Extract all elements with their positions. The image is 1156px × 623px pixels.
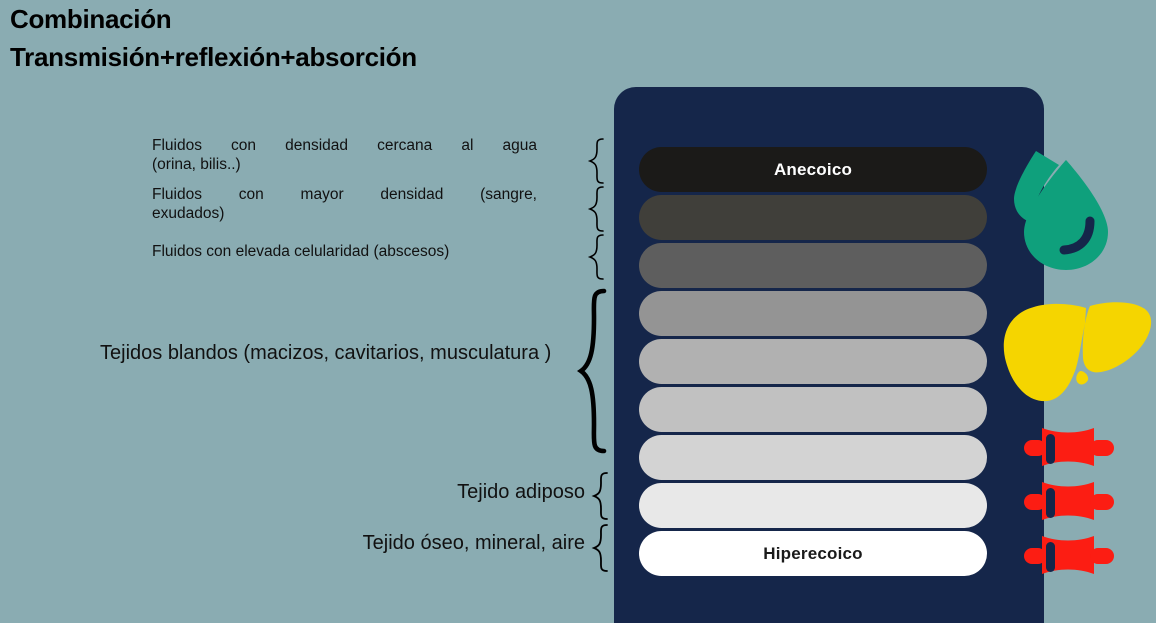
water-drop-icon <box>1004 144 1126 274</box>
label-soft-tissues-line2: musculatura ) <box>430 342 551 364</box>
echogenicity-bar-label: Hiperecoico <box>763 544 863 564</box>
label-fluid-near-water: Fluidos con densidad cercana al agua (or… <box>152 136 537 174</box>
label-column: Fluidos con densidad cercana al agua (or… <box>0 0 614 623</box>
echogenicity-bar <box>639 195 987 240</box>
brace-bone-tissue <box>592 524 610 572</box>
brace-fluid-near-water <box>588 138 606 184</box>
label-soft-tissues-line1: Tejidos blandos (macizos, cavitarios, <box>100 342 425 364</box>
brace-fat-tissue <box>592 472 610 520</box>
label-bone-tissue: Tejido óseo, mineral, aire <box>200 534 585 553</box>
echogenicity-bar <box>639 483 987 528</box>
label-fluid-high-cellularity: Fluidos con elevada celularidad (absceso… <box>152 242 552 261</box>
label-fat-tissue: Tejido adiposo <box>240 483 585 502</box>
echogenicity-bar-label: Anecoico <box>774 160 852 180</box>
brace-fluid-high-cellularity <box>588 234 606 280</box>
spine-vertebrae-icon <box>1010 422 1130 587</box>
echogenicity-bar <box>639 435 987 480</box>
label-fluid-higher-density-line1: Fluidos con mayor densidad (sangre, <box>152 185 537 204</box>
liver-icon <box>990 292 1156 417</box>
label-fluid-higher-density-line2: exudados) <box>152 204 537 223</box>
label-fluid-higher-density: Fluidos con mayor densidad (sangre, exud… <box>152 185 537 223</box>
icon-column <box>1000 87 1156 623</box>
echogenicity-scale: AnecoicoHiperecoico <box>639 147 987 579</box>
label-fluid-near-water-line1: Fluidos con densidad cercana al agua <box>152 136 537 155</box>
echogenicity-bar <box>639 243 987 288</box>
label-fluid-near-water-line2: (orina, bilis..) <box>152 155 537 174</box>
echogenicity-bar: Hiperecoico <box>639 531 987 576</box>
brace-soft-tissues <box>578 288 608 454</box>
brace-fluid-higher-density <box>588 186 606 232</box>
echogenicity-bar <box>639 339 987 384</box>
echogenicity-bar <box>639 387 987 432</box>
echogenicity-bar: Anecoico <box>639 147 987 192</box>
label-soft-tissues: Tejidos blandos (macizos, cavitarios, mu… <box>100 340 572 366</box>
echogenicity-bar <box>639 291 987 336</box>
